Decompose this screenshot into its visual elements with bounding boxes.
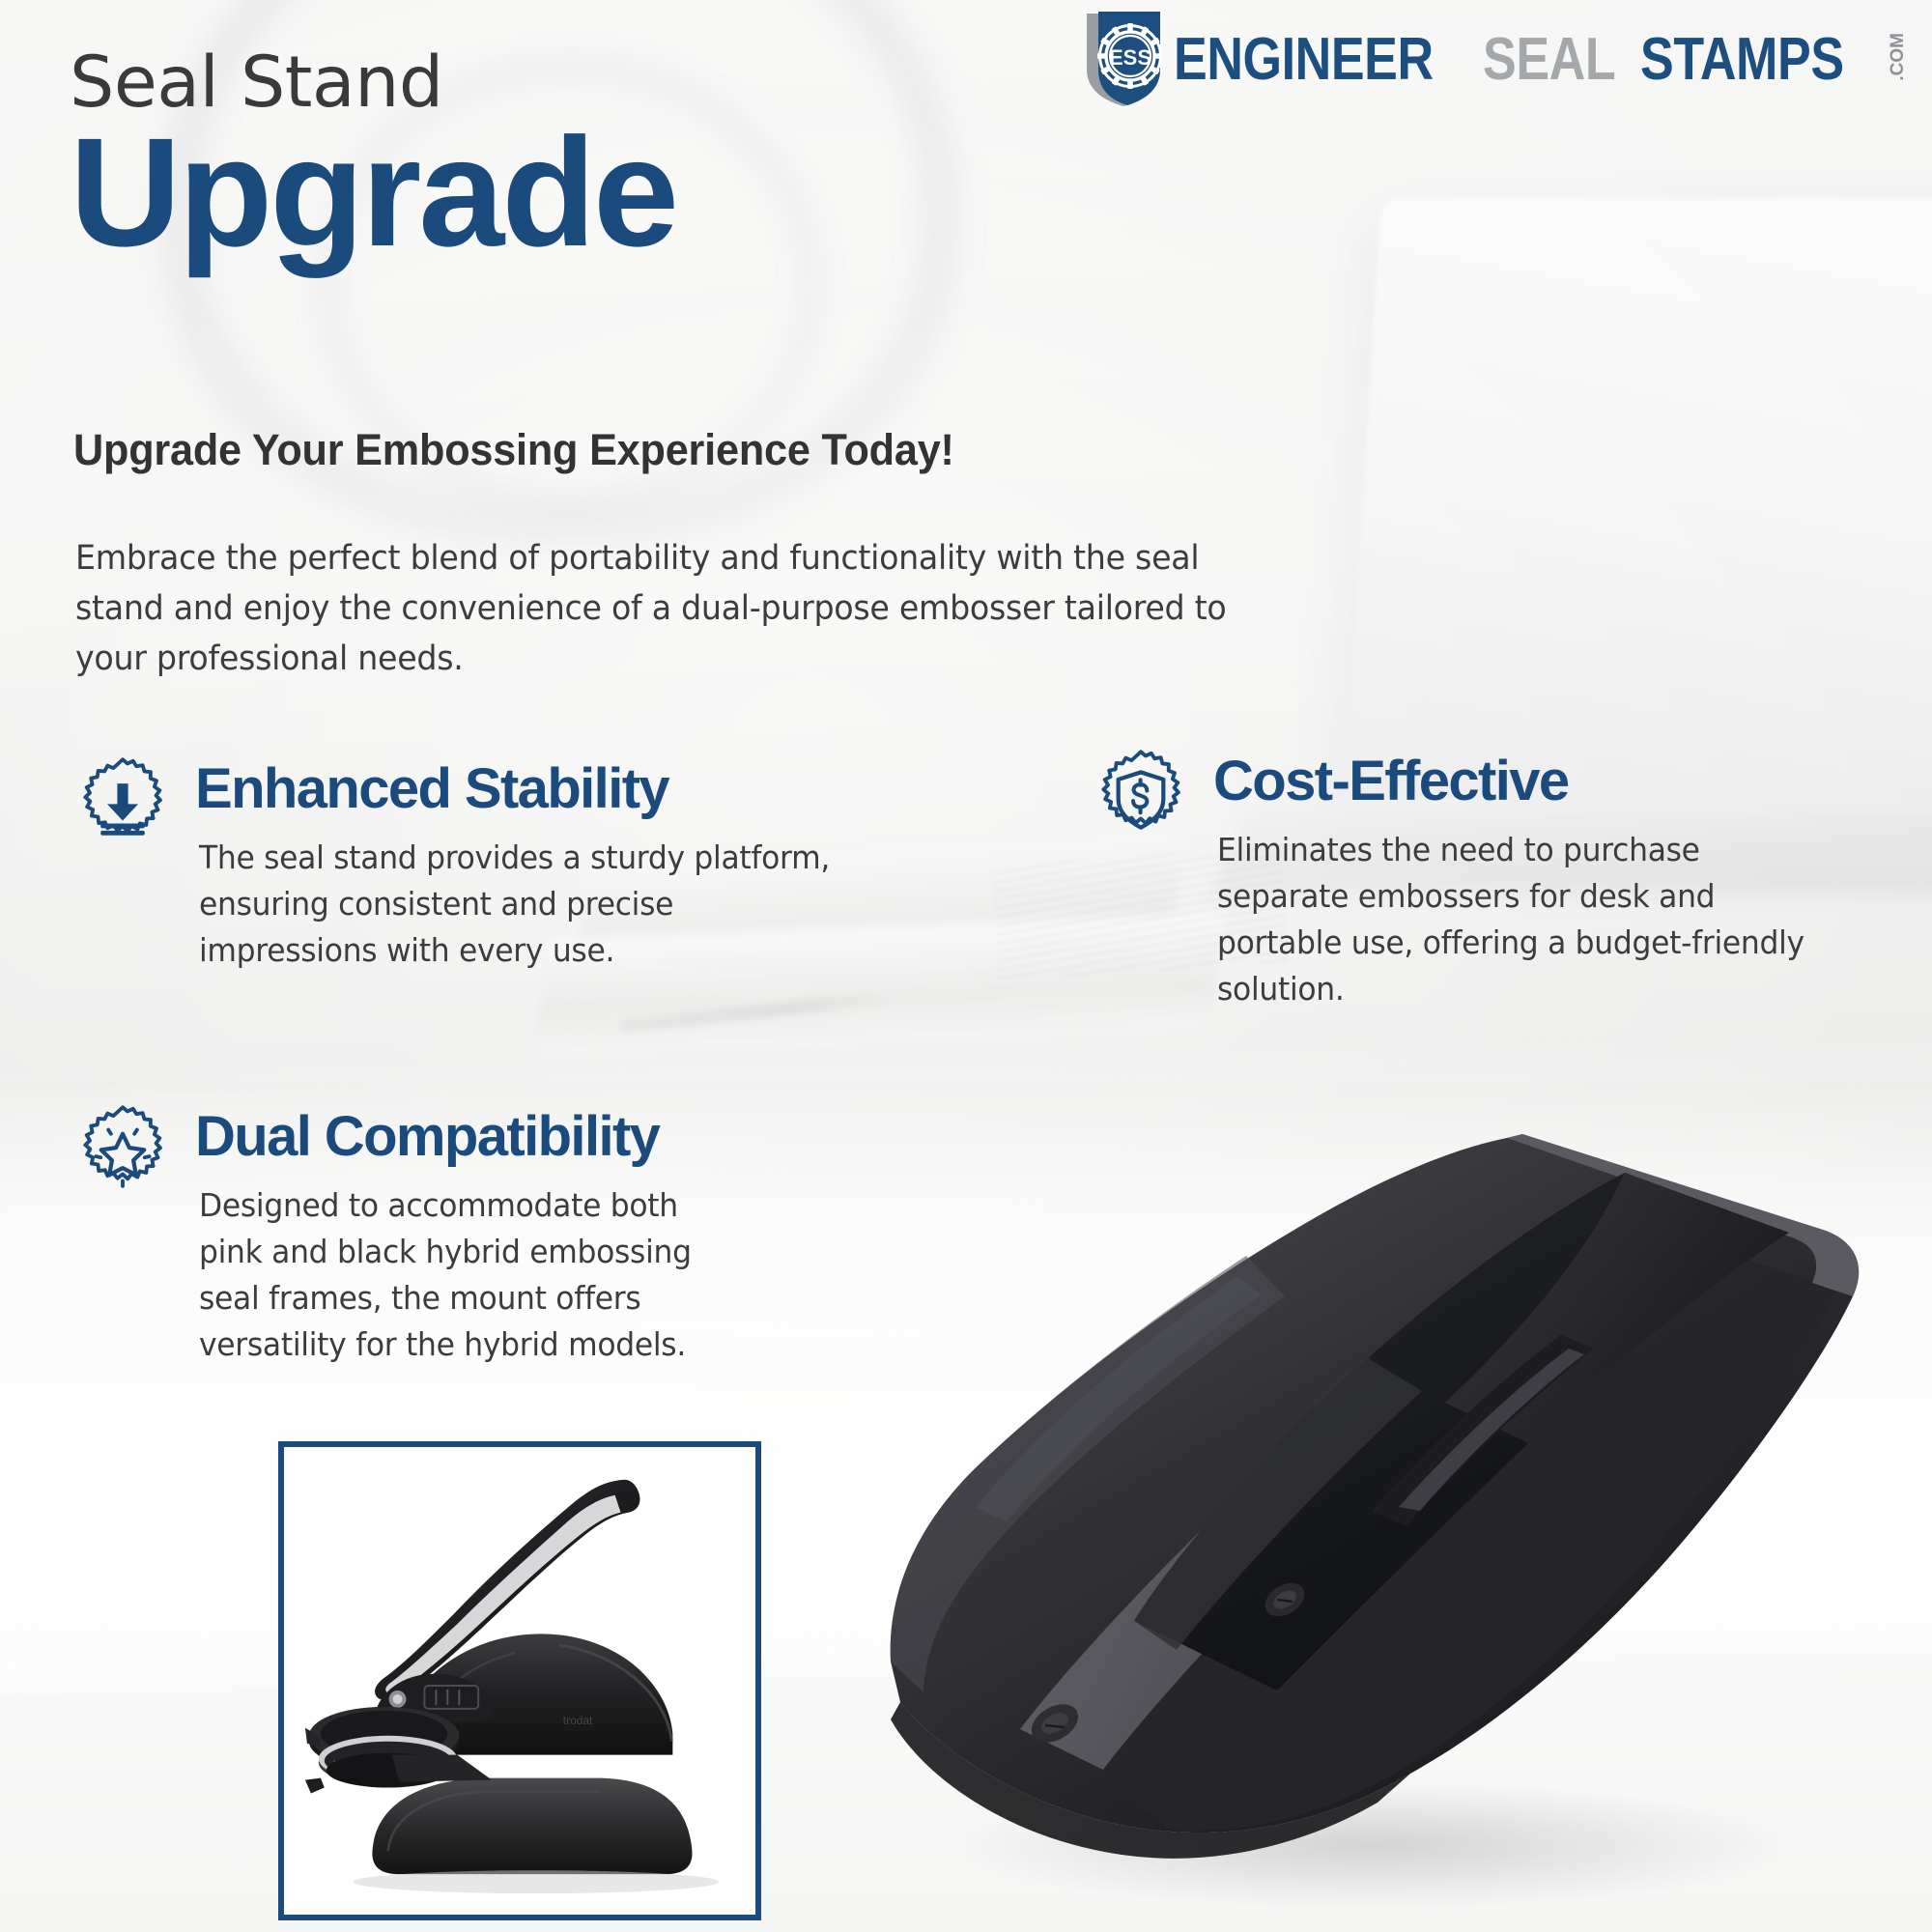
feature-enhanced-stability: Enhanced Stability The seal stand provid… [71, 753, 883, 974]
press-down-badge-icon [71, 755, 174, 858]
feature-title: Cost-Effective [1213, 748, 1862, 815]
feature-description: The seal stand provides a sturdy platfor… [199, 835, 883, 974]
intro-paragraph: Embrace the perfect blend of portability… [75, 533, 1331, 684]
logo-wordmark: ENGINEER SEAL STAMPS [1174, 27, 1883, 89]
seal-stand-illustration [831, 1053, 1922, 1922]
headline-title: Upgrade [70, 116, 676, 269]
feature-title: Dual Compatibility [195, 1103, 767, 1171]
ess-monogram: ESS [1109, 45, 1151, 70]
feature-description: Eliminates the need to purchase separate… [1217, 827, 1862, 1012]
feature-cost-effective: Cost-Effective Eliminates the need to pu… [1090, 746, 1862, 1012]
product-thumbnail-frame[interactable]: trodat [278, 1441, 761, 1920]
shield-dollar-badge-icon [1090, 748, 1192, 850]
svg-text:trodat: trodat [563, 1714, 593, 1727]
star-sparkle-badge-icon [71, 1103, 174, 1206]
seal-stand-hero-photo [831, 1053, 1922, 1922]
feature-dual-compatibility: Dual Compatibility Designed to accommoda… [71, 1101, 767, 1368]
infographic-canvas: ESS ENGINEER SEAL STAMPS .COM Seal Stand… [0, 0, 1932, 1932]
brand-logo[interactable]: ESS ENGINEER SEAL STAMPS .COM [1077, 8, 1907, 108]
logo-word-stamps: STAMPS [1640, 31, 1844, 89]
logo-tld: .COM [1889, 33, 1907, 81]
feature-body: Dual Compatibility Designed to accommoda… [195, 1101, 767, 1368]
embosser-on-stand-photo: trodat [284, 1447, 755, 1915]
headline-block: Seal Stand Upgrade [70, 43, 676, 269]
logo-word-engineer: ENGINEER [1174, 31, 1434, 89]
subheading: Upgrade Your Embossing Experience Today! [73, 425, 954, 475]
ess-shield-gear-icon: ESS [1077, 8, 1170, 108]
logo-word-seal: SEAL [1483, 31, 1615, 89]
feature-title: Enhanced Stability [195, 755, 883, 823]
feature-description: Designed to accommodate both pink and bl… [199, 1182, 767, 1368]
feature-body: Enhanced Stability The seal stand provid… [195, 753, 883, 974]
intro-text: Embrace the perfect blend of portability… [75, 533, 1268, 684]
feature-body: Cost-Effective Eliminates the need to pu… [1213, 746, 1862, 1012]
